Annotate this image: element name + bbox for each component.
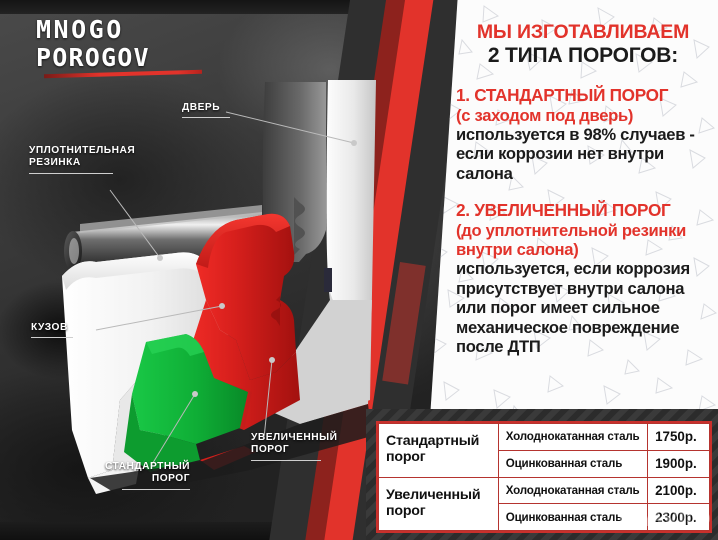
- standard-subtitle: (с заходом под дверь): [456, 106, 708, 125]
- standard-title: 1. СТАНДАРТНЫЙ ПОРОГ: [456, 86, 708, 106]
- price-row-material: Холоднокатанная сталь: [498, 424, 647, 451]
- callout-body-rule: [31, 337, 73, 338]
- callout-extended-rule: [251, 460, 321, 461]
- price-row-material: Оцинкованная сталь: [498, 450, 647, 477]
- price-row-price: 1900р.: [648, 450, 710, 477]
- header-line-2: 2 ТИПА ПОРОГОВ:: [456, 44, 710, 68]
- callout-body: КУЗОВ: [31, 322, 73, 338]
- price-row-price: 1750р.: [648, 424, 710, 451]
- price-table: Стандартный порог Холоднокатанная сталь …: [376, 421, 712, 533]
- price-row-material: Холоднокатанная сталь: [498, 477, 647, 504]
- extended-description: используется, если коррозия присутствует…: [456, 259, 708, 356]
- callout-door: ДВЕРЬ: [182, 102, 230, 118]
- price-row-price: 2300р.: [648, 504, 710, 531]
- callout-standard-sill: СТАНДАРТНЫЙ ПОРОГ: [80, 461, 190, 490]
- callout-standard-rule: [122, 489, 190, 490]
- price-row-name: Стандартный порог: [379, 424, 499, 478]
- standard-description: используется в 98% случаев - если корроз…: [456, 125, 708, 183]
- price-row-price: 2100р.: [648, 477, 710, 504]
- table-row: Увеличенный порог Холоднокатанная сталь …: [379, 477, 710, 504]
- logo-line-2: POROGOV: [36, 45, 216, 70]
- logo-line-1: MNOGO: [36, 17, 216, 42]
- price-row-material: Оцинкованная сталь: [498, 504, 647, 531]
- extended-title: 2. УВЕЛИЧЕННЫЙ ПОРОГ: [456, 201, 708, 221]
- callout-door-rule: [182, 117, 230, 118]
- callout-seal-rule: [29, 173, 113, 174]
- extended-subtitle: (до уплотнительной резинки внутри салона…: [456, 221, 708, 259]
- price-row-name: Увеличенный порог: [379, 477, 499, 531]
- callout-seal: УПЛОТНИТЕЛЬНАЯ РЕЗИНКА: [29, 145, 135, 174]
- callout-extended-sill: УВЕЛИЧЕННЫЙ ПОРОГ: [251, 432, 337, 461]
- header-line-1: МЫ ИЗГОТАВЛИВАЕМ: [456, 22, 710, 43]
- promo-image: МЫ ИЗГОТАВЛИВАЕМ 2 ТИПА ПОРОГОВ: 1. СТАН…: [0, 0, 718, 540]
- brand-logo: MNOGO POROGOV: [36, 17, 216, 75]
- table-row: Стандартный порог Холоднокатанная сталь …: [379, 424, 710, 451]
